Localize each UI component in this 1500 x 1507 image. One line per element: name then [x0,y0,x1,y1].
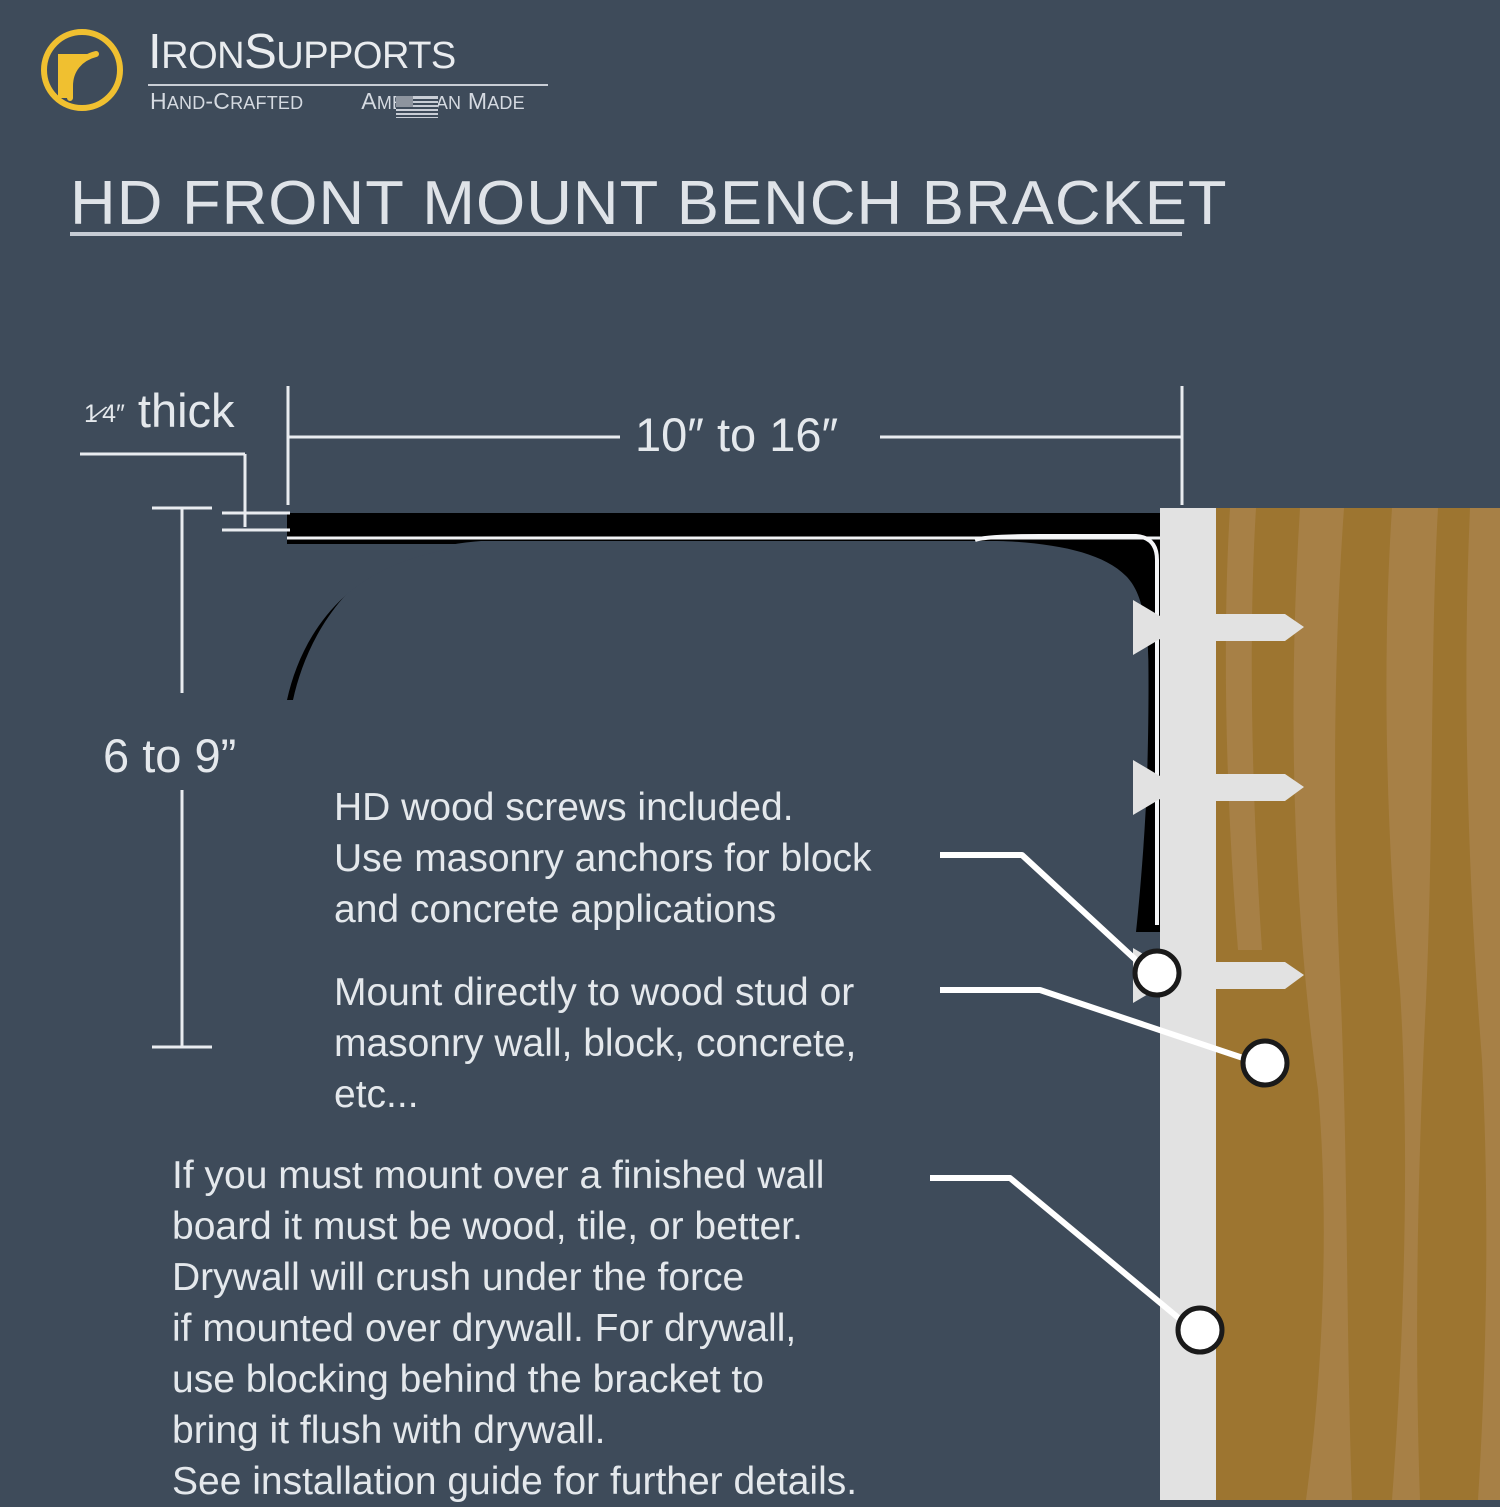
tagline-ade: ADE [487,93,525,113]
callout-dot-2 [1243,1041,1287,1085]
callout-line: See installation guide for further detai… [172,1456,857,1507]
callout-line: bring it flush with drywall. [172,1405,857,1456]
callout-line: masonry wall, block, concrete, [334,1018,856,1069]
callout-dot-1 [1135,951,1179,995]
fraction-quarter: 1⁄4″ [82,402,125,427]
diagram-canvas: IRONSUPPORTS HAND-CRAFTEDAMERICAN MADE H… [0,0,1500,1500]
callout-line: Use masonry anchors for block [334,833,872,884]
american-flag-icon [396,96,438,118]
title-underline [70,232,1182,236]
callout-dot-3 [1178,1308,1222,1352]
tagline-m: M [461,88,487,114]
tagline-a: A [361,88,377,114]
dimension-width: 10″ to 16″ [635,407,838,462]
callout-wood-screws: HD wood screws included. Use masonry anc… [334,782,872,935]
callout-line: Drywall will crush under the force [172,1252,857,1303]
callout-line: Mount directly to wood stud or [334,967,856,1018]
dimension-lines [80,386,1182,1047]
callout-line: board it must be wood, tile, or better. [172,1201,857,1252]
callout-line: if mounted over drywall. For drywall, [172,1303,857,1354]
brand-name-upports: UPPORTS [276,35,456,77]
callout-mount-surface: Mount directly to wood stud or masonry w… [334,967,856,1120]
brand-divider [148,84,548,86]
callout-finished-wall-board: If you must mount over a finished wall b… [172,1150,857,1507]
tagline-dash-c: -C [205,88,230,114]
callout-line: use blocking behind the bracket to [172,1354,857,1405]
brand-logo[interactable]: IRONSUPPORTS HAND-CRAFTEDAMERICAN MADE [40,22,560,114]
tagline-h: H [150,88,167,114]
callout-line: etc... [334,1069,856,1120]
thickness-word: thick [125,384,235,437]
brand-wordmark: IRONSUPPORTS HAND-CRAFTEDAMERICAN MADE [148,22,558,114]
callout-line: If you must mount over a finished wall [172,1150,857,1201]
brand-name: IRONSUPPORTS [148,24,456,80]
iron-supports-circle-logo [40,28,124,112]
brand-tagline: HAND-CRAFTEDAMERICAN MADE [150,88,525,115]
dimension-height: 6 to 9” [103,728,236,783]
page-title: HD FRONT MOUNT BENCH BRACKET [70,168,1228,239]
brand-name-s: S [244,25,276,79]
tagline-and: AND [167,93,206,113]
tagline-rafted: RAFTED [230,93,303,113]
brand-name-ron: RON [161,35,244,77]
inch-mark: ″ [116,400,125,428]
callout-line: and concrete applications [334,884,872,935]
wood-stud [1215,508,1500,1500]
dimension-thickness: 1⁄4″ thick [82,383,235,438]
callout-line: HD wood screws included. [334,782,872,833]
brand-name-i: I [148,25,161,79]
